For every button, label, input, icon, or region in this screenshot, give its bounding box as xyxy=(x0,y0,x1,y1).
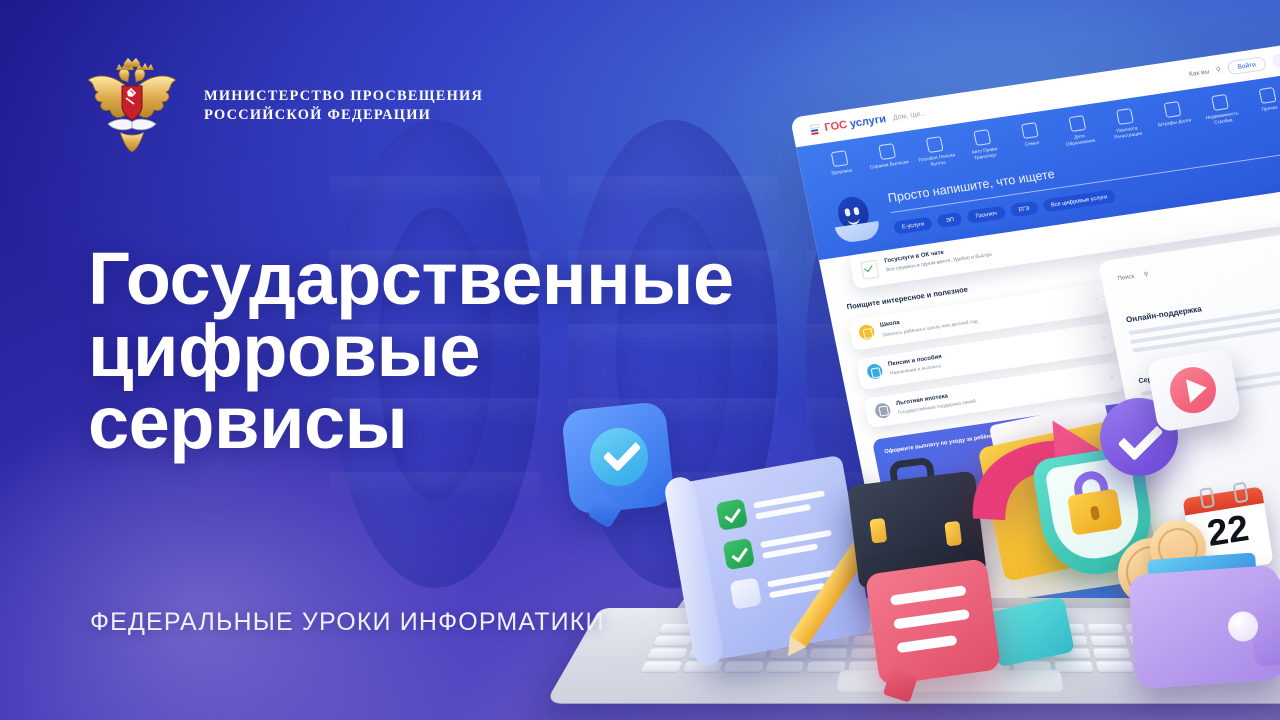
nav-item[interactable]: Здоровье xyxy=(818,148,864,183)
search-chip[interactable]: ЕГЭ xyxy=(1010,201,1039,218)
passport-icon xyxy=(1116,108,1134,125)
nav-item[interactable]: Прочее xyxy=(1246,85,1280,120)
health-icon xyxy=(830,150,848,167)
wallet-icon xyxy=(1128,565,1280,689)
search-icon[interactable]: ⚲ xyxy=(1143,271,1149,279)
school-icon xyxy=(858,324,876,341)
chevron-right-icon: › xyxy=(1102,335,1106,342)
page-subtitle: ФЕДЕРАЛЬНЫЕ УРОКИ ИНФОРМАТИКИ xyxy=(90,608,605,637)
laptop-key xyxy=(810,649,848,659)
nav-item[interactable]: Авто Права Транспорт xyxy=(960,127,1006,162)
money-icon xyxy=(925,136,943,153)
search-chip[interactable]: Е-услуги xyxy=(893,217,934,235)
nav-item-label: Справки Выписки xyxy=(869,159,909,170)
laptop-key xyxy=(1090,636,1128,645)
nav-item[interactable]: Справки Выписки xyxy=(865,141,911,176)
nav-item[interactable]: Пособия Пенсия Льготы xyxy=(913,134,959,169)
search-chip[interactable]: Госключ xyxy=(967,206,1007,224)
search-chip[interactable]: ЭП xyxy=(937,212,963,228)
laptop-key xyxy=(641,662,682,672)
ministry-line-2: РОССИЙСКОЙ ФЕДЕРАЦИИ xyxy=(204,106,483,125)
russian-coat-of-arms-icon xyxy=(82,58,182,154)
laptop-key xyxy=(647,649,687,659)
education-icon xyxy=(1068,115,1086,132)
fine-icon xyxy=(1163,101,1181,118)
laptop-key xyxy=(1095,662,1134,672)
nav-item-label: Дети Образование xyxy=(1059,131,1101,148)
register-button[interactable]: Регистрация xyxy=(1271,47,1280,69)
page-title-line-2: цифровые xyxy=(88,315,848,387)
nav-item-label: Штрафы Долги xyxy=(1157,117,1191,128)
poster-canvas: МИНИСТЕРСТВО ПРОСВЕЩЕНИЯ РОССИЙСКОЙ ФЕДЕ… xyxy=(0,0,1280,720)
laptop-key xyxy=(1087,624,1124,633)
page-title-line-3: сервисы xyxy=(88,387,848,459)
chevron-right-icon: › xyxy=(1094,296,1098,303)
laptop-key xyxy=(724,662,764,672)
flag-icon xyxy=(810,124,821,135)
ministry-brand: МИНИСТЕРСТВО ПРОСВЕЩЕНИЯ РОССИЙСКОЙ ФЕДЕ… xyxy=(82,58,483,154)
laptop-key xyxy=(1054,662,1093,672)
logo-gos: ГОС xyxy=(823,119,848,134)
logo-tagline: Дом, где... xyxy=(892,110,927,122)
support-search-label: Поиск xyxy=(1117,273,1135,281)
location-label[interactable]: Как вы xyxy=(1188,68,1209,78)
nav-item-label: Семья xyxy=(1024,140,1039,148)
nav-item[interactable]: Паспорта Регистрация xyxy=(1103,106,1149,141)
document-icon xyxy=(878,143,896,160)
other-icon xyxy=(1258,87,1276,104)
ministry-line-1: МИНИСТЕРСТВО ПРОСВЕЩЕНИЯ xyxy=(204,87,483,106)
nav-item-label: Паспорта Регистрация xyxy=(1107,124,1149,141)
nav-item[interactable]: Штрафы Долги xyxy=(1151,99,1197,134)
nav-item-label: Здоровье xyxy=(831,167,853,176)
nav-item-label: Прочее xyxy=(1261,105,1278,113)
nav-item[interactable]: Семья xyxy=(1008,120,1054,155)
nav-item[interactable]: Дети Образование xyxy=(1056,113,1102,148)
home-icon xyxy=(1211,94,1229,111)
nav-item[interactable]: Недвижимость Стройка xyxy=(1198,92,1244,127)
max-assistant-icon[interactable] xyxy=(829,192,884,246)
car-icon xyxy=(973,129,991,146)
page-title: Государственныецифровыесервисы xyxy=(88,243,848,459)
ministry-text: МИНИСТЕРСТВО ПРОСВЕЩЕНИЯ РОССИЙСКОЙ ФЕДЕ… xyxy=(204,87,483,124)
search-icon[interactable]: ⚲ xyxy=(1215,66,1221,75)
laptop-key xyxy=(765,662,804,672)
logo-uslugi: услуги xyxy=(849,113,887,130)
login-button[interactable]: Войти xyxy=(1226,56,1267,75)
message-icon xyxy=(865,558,1001,686)
notice-check-icon xyxy=(860,260,879,280)
nav-item-label: Авто Права Транспорт xyxy=(964,145,1006,162)
laptop-key xyxy=(653,636,693,645)
support-heading: Онлайн-поддержка xyxy=(1125,272,1280,325)
laptop-key xyxy=(1093,649,1132,659)
pension-icon xyxy=(866,363,884,380)
family-icon xyxy=(1020,122,1038,139)
nav-item-label: Пособия Пенсия Льготы xyxy=(916,152,958,169)
page-title-line-1: Государственные xyxy=(88,243,848,315)
chevron-right-icon: › xyxy=(1110,374,1114,381)
nav-item-label: Недвижимость Стройка xyxy=(1202,110,1244,127)
search-chip[interactable]: Все цифровые услуги xyxy=(1042,190,1117,213)
play-icon xyxy=(1146,347,1241,432)
mortgage-icon xyxy=(874,402,892,419)
laptop-key xyxy=(807,662,846,672)
